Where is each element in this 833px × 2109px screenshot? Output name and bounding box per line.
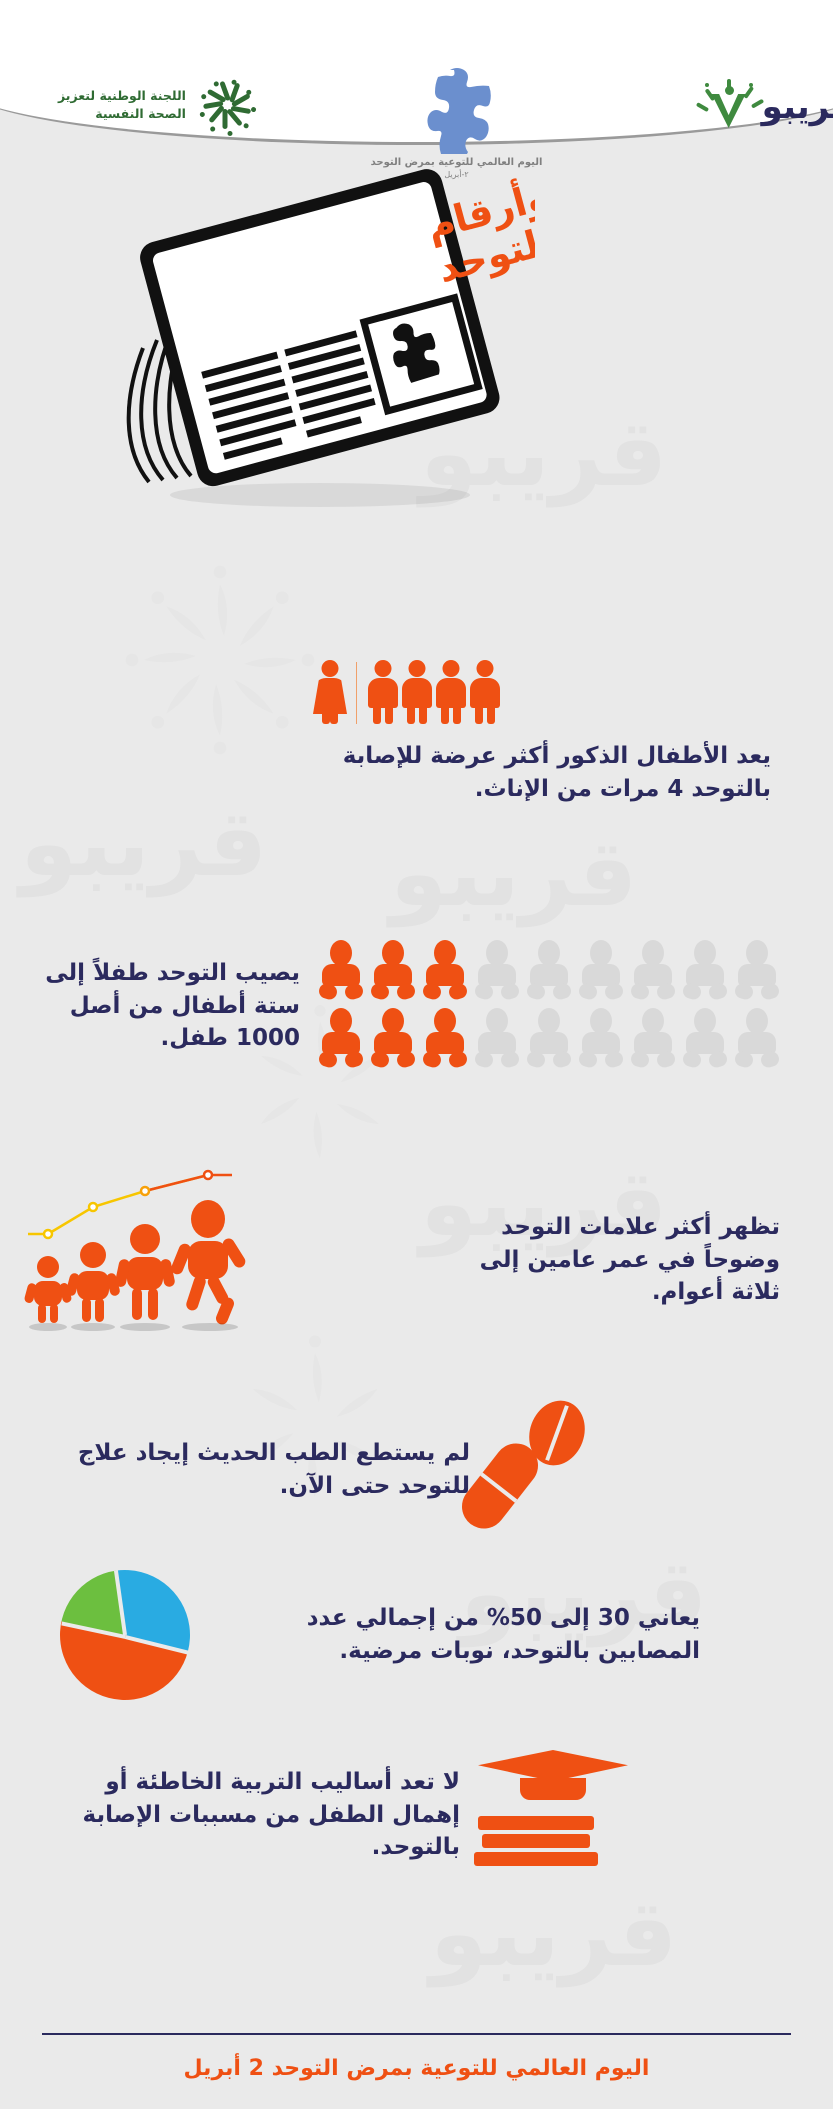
book-2 [482, 1834, 590, 1848]
baby-affected [370, 940, 416, 1002]
awareness-day-title: اليوم العالمي للتوعية بمرض التوحد [40, 156, 833, 170]
male-figure [400, 660, 434, 724]
baby-unaffected [734, 940, 780, 1002]
baby-unaffected [474, 1008, 520, 1070]
watermark-brand-2: قريبو [20, 790, 267, 897]
baby-unaffected [682, 940, 728, 1002]
book-1 [478, 1816, 594, 1830]
baby-affected [318, 940, 364, 1002]
baby-unaffected [682, 1008, 728, 1070]
pie-chart-icon [0, 1570, 250, 1700]
baby-affected [318, 1008, 364, 1070]
fact-gender-ratio-text: يعد الأطفال الذكور أكثر عرضة للإصابة بال… [313, 740, 783, 805]
fact-not-parenting-text: لا تعد أساليب التربية الخاطئة أو إهمال ا… [40, 1766, 460, 1864]
seizure-pie-chart [52, 1562, 199, 1709]
fact-prevalence: يصيب التوحد طفلاً إلى ستة أطفال من أصل 1… [20, 940, 820, 1072]
qaribo-mark-icon [700, 78, 758, 136]
pie-separator [125, 1635, 189, 1655]
babies-grid-icon [318, 940, 780, 1072]
awareness-day-caption: اليوم العالمي للتوعية بمرض التوحد ٢-أبري… [40, 156, 833, 180]
baby-affected [422, 940, 468, 1002]
qaribo-wordmark: قريبو [762, 90, 833, 124]
gender-divider [356, 662, 357, 724]
awareness-day-date: ٢-أبريل [40, 170, 833, 181]
watermark-brand-6: قريبو [430, 1880, 677, 1987]
watermark-brand-3: قريبو [390, 820, 637, 927]
qaribo-logo: قريبو [700, 78, 833, 136]
fact-onset-age-text: تظهر أكثر علامات التوحد وضوحاً في عمر عا… [450, 1211, 790, 1309]
header-content: اللجنة الوطنية لتعزيز الصحة النفسية اليو… [40, 60, 833, 205]
child-figure-4-running [169, 1200, 247, 1326]
baby-unaffected [578, 1008, 624, 1070]
pie-separator [61, 1622, 125, 1639]
growth-chart-children-icon [0, 1155, 450, 1365]
baby-unaffected [630, 940, 676, 1002]
fact-prevalence-text: يصيب التوحد طفلاً إلى ستة أطفال من أصل 1… [20, 957, 300, 1055]
fact-gender-ratio: يعد الأطفال الذكور أكثر عرضة للإصابة بال… [313, 660, 823, 805]
qaribo-v-shape [712, 94, 746, 128]
baby-unaffected [578, 940, 624, 1002]
male-figure [468, 660, 502, 724]
child-figure-2 [65, 1242, 121, 1322]
baby-unaffected [734, 1008, 780, 1070]
fact-seizures-text: يعاني 30 إلى 50% من إجمالي عدد المصابين … [250, 1602, 730, 1667]
baby-unaffected [526, 1008, 572, 1070]
baby-unaffected [474, 940, 520, 1002]
baby-affected [370, 1008, 416, 1070]
male-figure [366, 660, 400, 724]
pie-separator [114, 1570, 127, 1635]
infographic-page: قريبو قريبو قريبو قريبو قريبو قريبو [0, 0, 833, 2109]
graduation-cap-books-icon [460, 1750, 660, 1880]
watermark-burst-1 [120, 560, 320, 760]
fact-not-parenting: لا تعد أساليب التربية الخاطئة أو إهمال ا… [0, 1750, 833, 1880]
footer-text: اليوم العالمي للتوعية بمرض التوحد 2 أبري… [0, 2056, 833, 2081]
fact-no-cure-text: لم يستطع الطب الحديث إيجاد علاج للتوحد ح… [50, 1437, 470, 1502]
cap-base [520, 1778, 586, 1800]
fact-no-cure-row: لم يستطع الطب الحديث إيجاد علاج للتوحد ح… [0, 1390, 833, 1550]
child-figure-3 [114, 1224, 176, 1320]
footer-divider [42, 2033, 791, 2035]
male-figure [434, 660, 468, 724]
female-figure [313, 660, 347, 724]
people-group-icon [313, 660, 502, 724]
baby-affected [422, 1008, 468, 1070]
pills-icon [470, 1390, 670, 1550]
baby-unaffected [630, 1008, 676, 1070]
qaribo-head-dot [725, 86, 734, 95]
book-3 [474, 1852, 598, 1866]
fact-onset-age: تظهر أكثر علامات التوحد وضوحاً في عمر عا… [0, 1155, 833, 1365]
baby-unaffected [526, 940, 572, 1002]
growth-trend-line [0, 1155, 450, 1365]
fact-seizures: يعاني 30 إلى 50% من إجمالي عدد المصابين … [0, 1570, 833, 1700]
child-figure-1 [24, 1256, 73, 1323]
